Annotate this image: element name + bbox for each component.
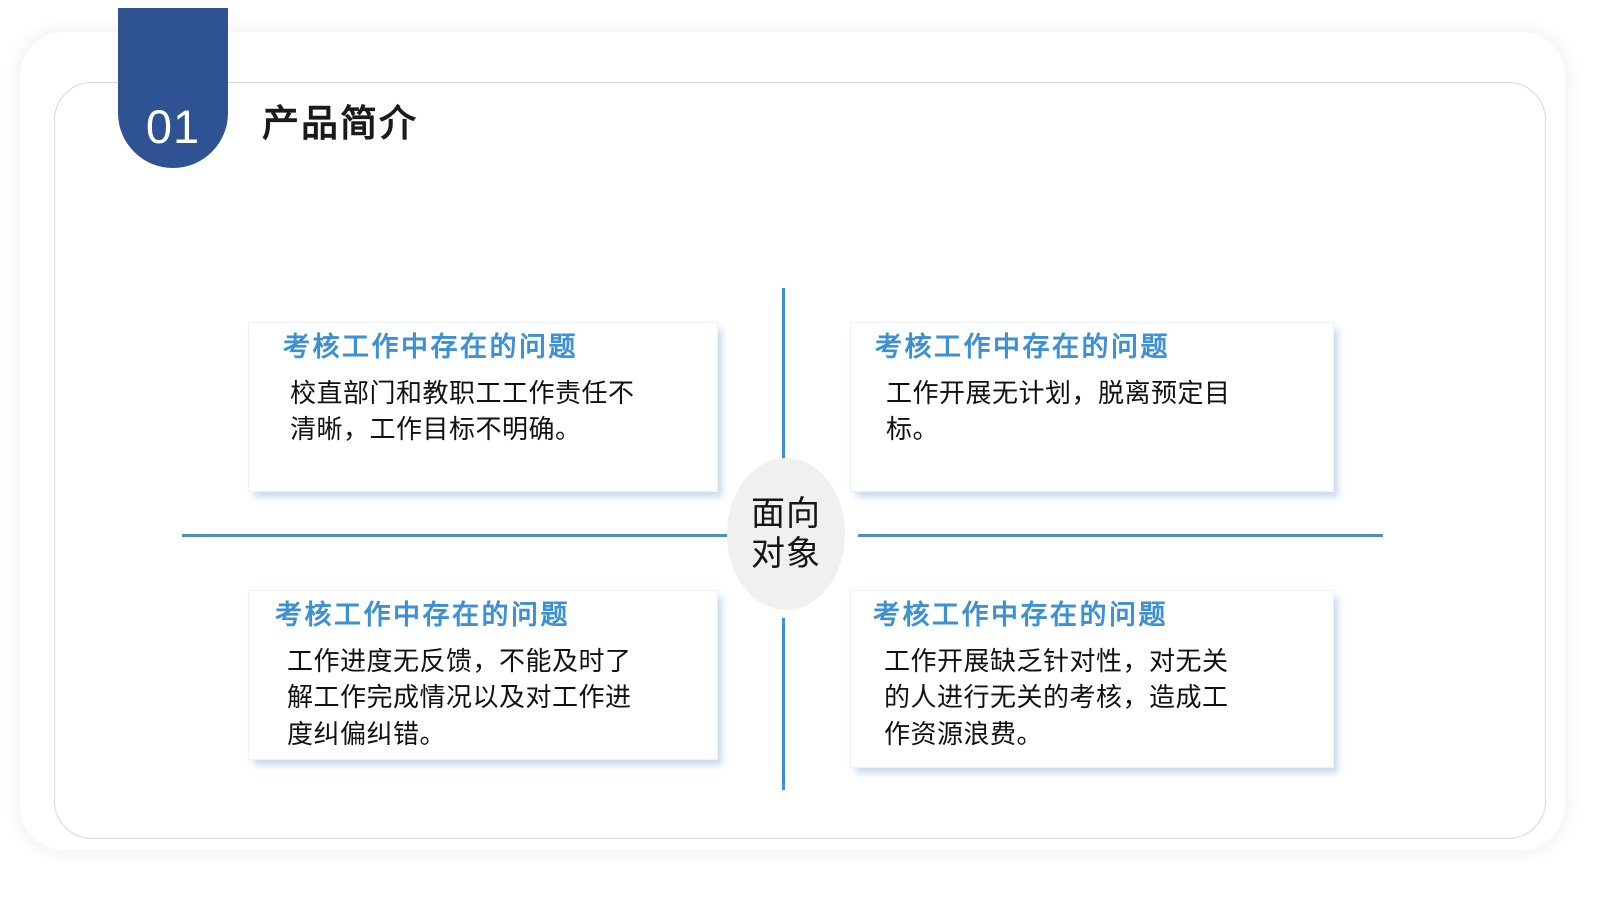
card-heading: 考核工作中存在的问题 — [875, 333, 1170, 363]
card-heading: 考核工作中存在的问题 — [873, 601, 1168, 631]
center-hub-circle: 面向 对象 — [727, 458, 845, 610]
card-heading: 考核工作中存在的问题 — [275, 601, 570, 631]
card-body: 工作开展无计划，脱离预定目标。 — [886, 375, 1256, 448]
problem-card-bottom-right[interactable]: 考核工作中存在的问题 工作开展缺乏针对性，对无关的人进行无关的考核，造成工作资源… — [850, 590, 1334, 768]
center-hub-label-line1: 面向 — [751, 494, 821, 534]
problem-card-top-right[interactable]: 考核工作中存在的问题 工作开展无计划，脱离预定目标。 — [850, 322, 1334, 492]
problem-card-top-left[interactable]: 考核工作中存在的问题 校直部门和教职工工作责任不清晰，工作目标不明确。 — [248, 322, 718, 492]
divider-horizontal-right — [858, 534, 1383, 537]
card-heading: 考核工作中存在的问题 — [283, 333, 578, 363]
card-body: 工作进度无反馈，不能及时了解工作完成情况以及对工作进度纠偏纠错。 — [287, 643, 647, 752]
divider-horizontal-left — [182, 534, 742, 537]
card-body: 工作开展缺乏针对性，对无关的人进行无关的考核，造成工作资源浪费。 — [884, 643, 1254, 752]
divider-vertical-bottom — [782, 618, 785, 790]
slide-canvas: 01 产品简介 面向 对象 考核工作中存在的问题 校直部门和教职工工作责任不清晰… — [0, 0, 1600, 900]
problem-card-bottom-left[interactable]: 考核工作中存在的问题 工作进度无反馈，不能及时了解工作完成情况以及对工作进度纠偏… — [248, 590, 718, 760]
divider-vertical-top — [782, 288, 785, 470]
center-hub-label-line2: 对象 — [751, 534, 821, 574]
quadrant-diagram: 面向 对象 考核工作中存在的问题 校直部门和教职工工作责任不清晰，工作目标不明确… — [0, 0, 1600, 900]
card-body: 校直部门和教职工工作责任不清晰，工作目标不明确。 — [290, 375, 650, 448]
